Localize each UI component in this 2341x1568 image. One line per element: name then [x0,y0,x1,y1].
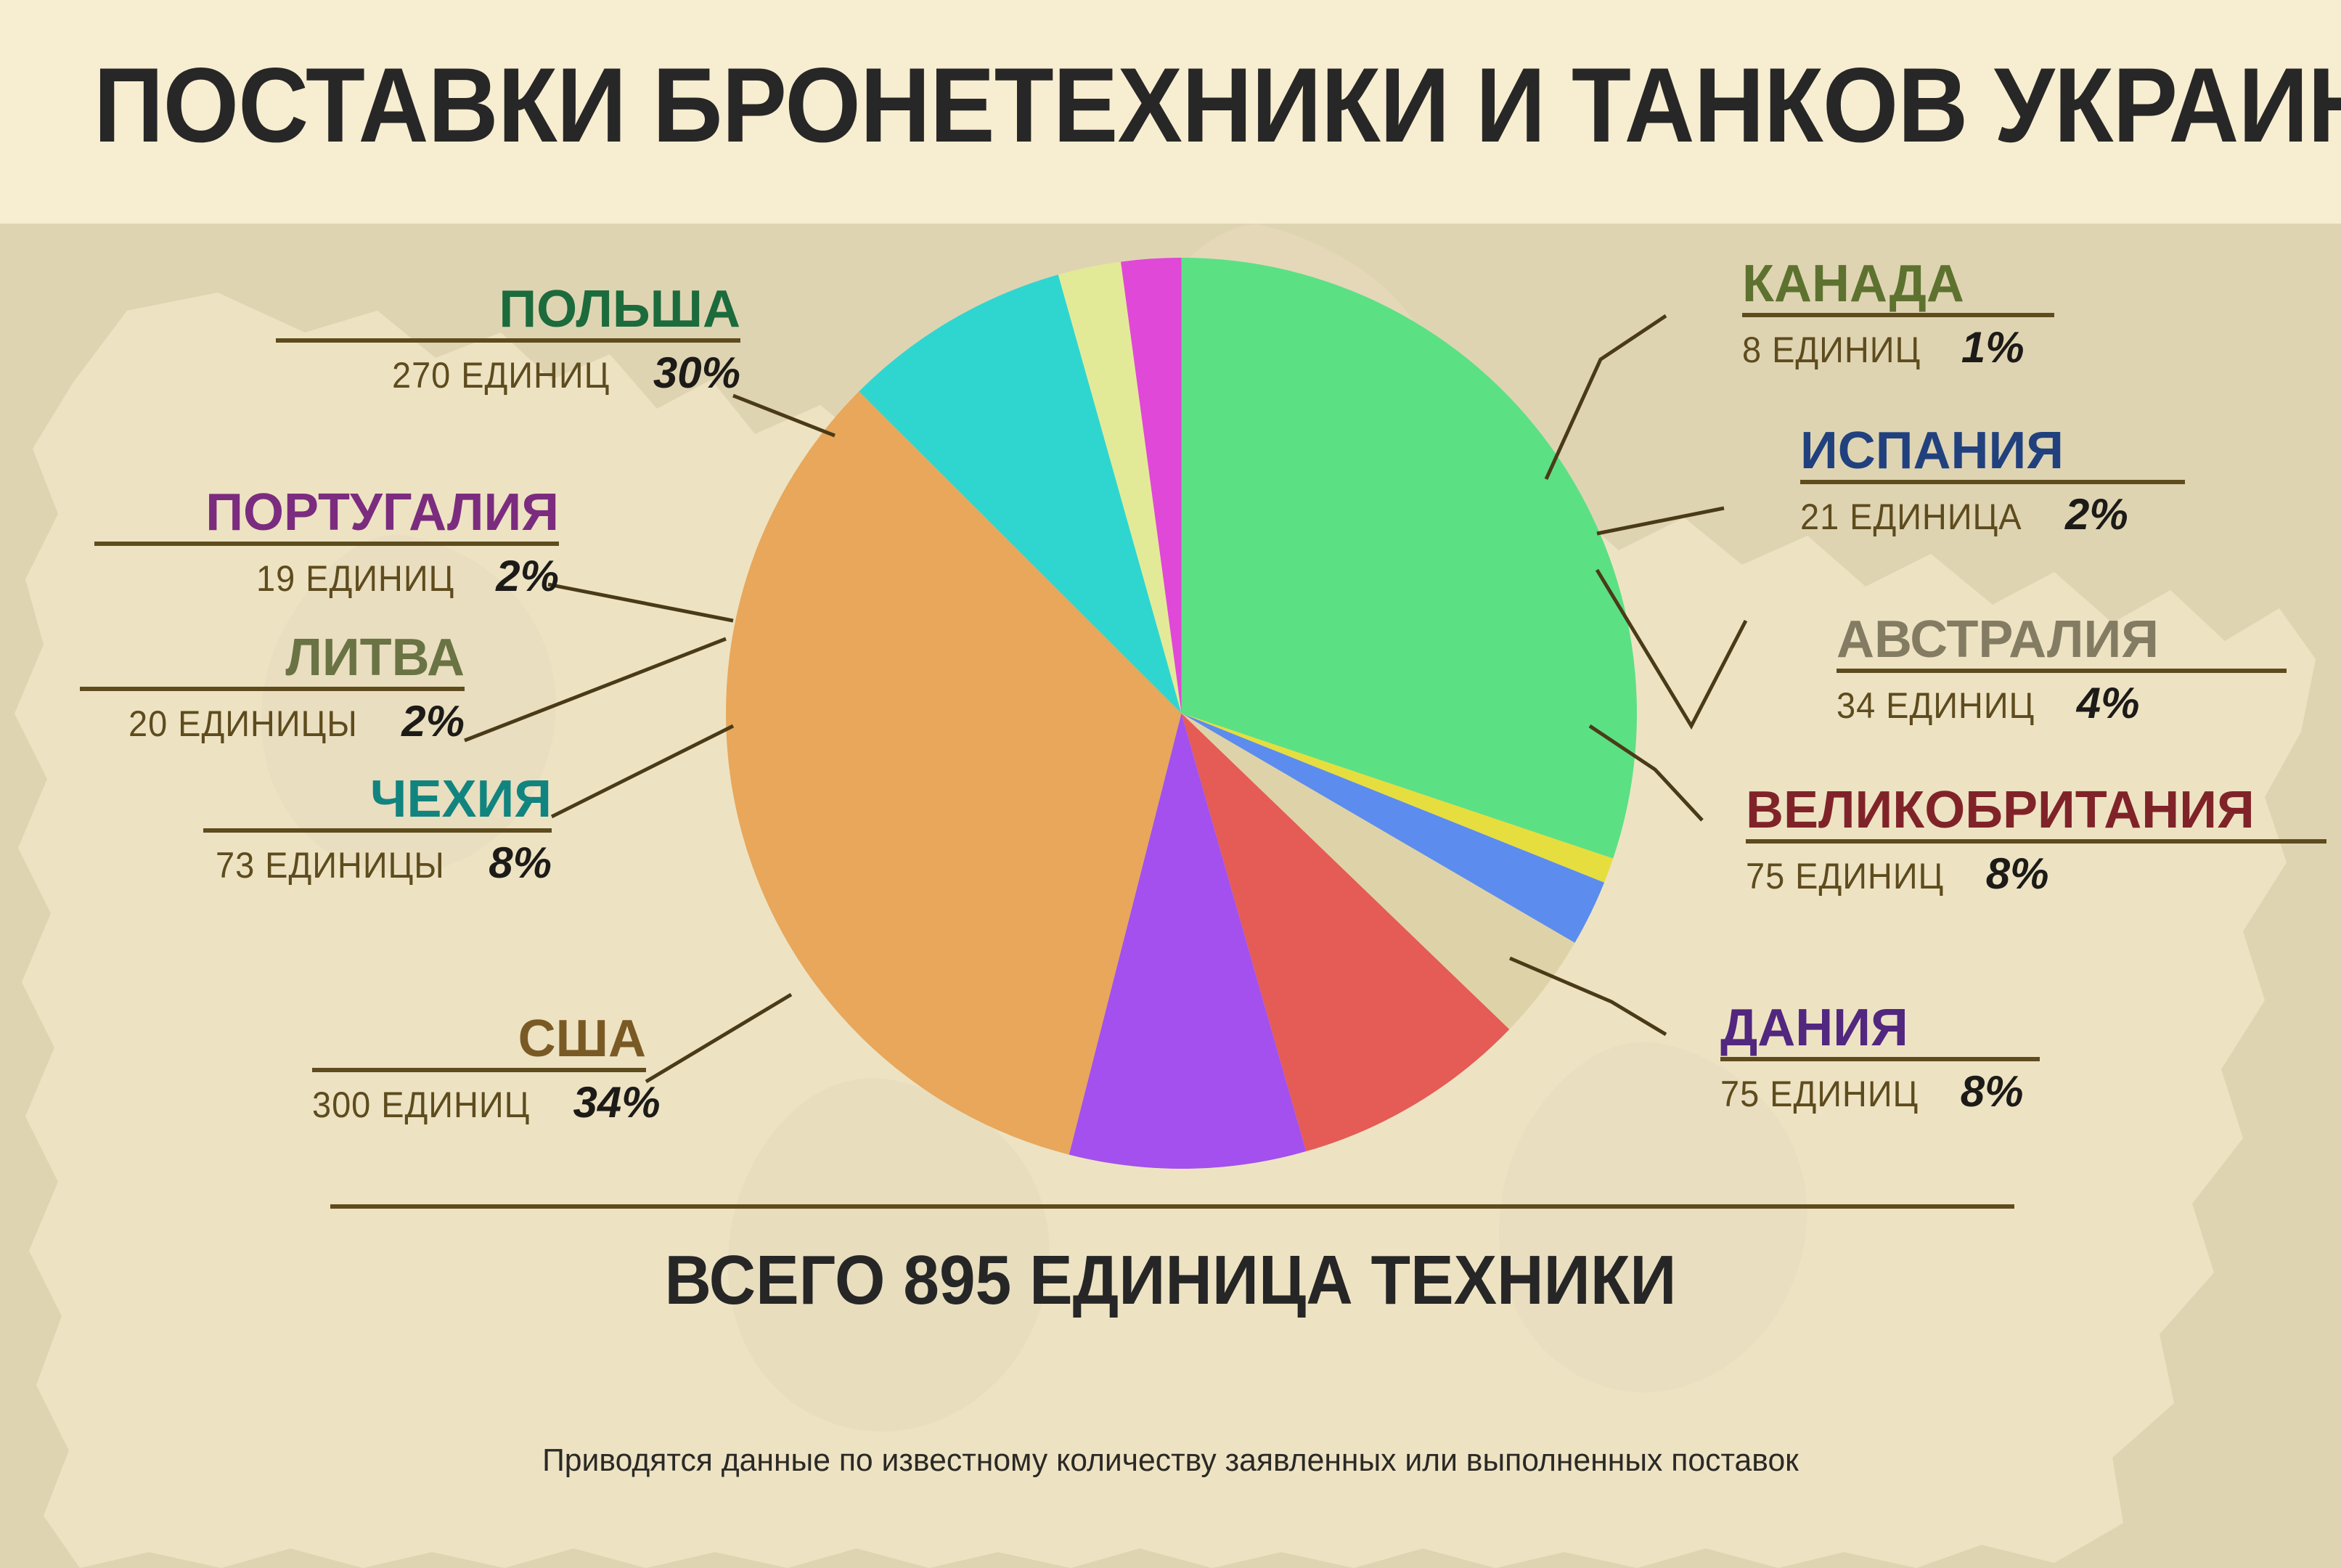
callout-portugal: ПОРТУГАЛИЯ 19 ЕДИНИЦ2% [94,486,559,598]
callout-portugal-rule [94,542,559,546]
callout-canada-percent: 1% [1961,326,2025,369]
callout-usa-units: 300 ЕДИНИЦ [312,1087,530,1123]
callout-portugal-units: 19 ЕДИНИЦ [256,560,454,597]
callout-poland-percent: 30% [653,351,740,395]
callout-usa-stats: 300 ЕДИНИЦ34% [312,1081,646,1124]
callout-usa-percent: 34% [573,1081,661,1124]
callout-australia-rule [1837,669,2287,673]
pie-chart-svg [726,258,1637,1169]
callout-czechia-rule [203,828,552,833]
callout-denmark: ДАНИЯ 75 ЕДИНИЦ8% [1720,1002,2040,1114]
callout-portugal-country: ПОРТУГАЛИЯ [94,486,559,539]
callout-poland-rule [276,338,740,343]
callout-denmark-rule [1720,1057,2040,1061]
callout-uk-stats: 75 ЕДИНИЦ8% [1746,852,2326,896]
callout-portugal-percent: 2% [496,555,559,598]
callout-spain-units: 21 ЕДИНИЦА [1800,499,2022,535]
page-title: ПОСТАВКИ БРОНЕТЕХНИКИ И ТАНКОВ УКРАИНЕ [94,52,2247,158]
callout-spain-rule [1800,480,2185,484]
callout-uk-percent: 8% [1986,852,2049,896]
callout-uk-country: ВЕЛИКОБРИТАНИЯ [1746,784,2326,836]
callout-spain: ИСПАНИЯ 21 ЕДИНИЦА2% [1800,425,2185,536]
infographic-root: ПОСТАВКИ БРОНЕТЕХНИКИ И ТАНКОВ УКРАИНЕ П… [0,0,2341,1568]
callout-lithuania-country: ЛИТВА [80,632,465,684]
callout-spain-percent: 2% [2065,493,2128,536]
header-band: ПОСТАВКИ БРОНЕТЕХНИКИ И ТАНКОВ УКРАИНЕ [0,0,2341,224]
callout-lithuania-percent: 2% [401,700,465,743]
callout-denmark-percent: 8% [1961,1070,2024,1114]
callout-spain-country: ИСПАНИЯ [1800,425,2185,477]
callout-poland: ПОЛЬША 270 ЕДИНИЦ30% [276,283,740,395]
callout-lithuania-stats: 20 ЕДИНИЦЫ2% [80,700,465,743]
callout-denmark-units: 75 ЕДИНИЦ [1720,1076,1919,1112]
callout-usa-country: США [312,1013,646,1065]
total-units-text: ВСЕГО 895 ЕДИНИЦА ТЕХНИКИ [82,1246,2259,1315]
callout-usa-rule [312,1068,646,1072]
callout-czechia-percent: 8% [489,841,552,885]
callout-portugal-stats: 19 ЕДИНИЦ2% [94,555,559,598]
callout-poland-units: 270 ЕДИНИЦ [392,357,610,393]
callout-czechia-units: 73 ЕДИНИЦЫ [216,847,445,883]
pie-slices [726,258,1637,1169]
footnote-text: Приводятся данные по известному количест… [35,1445,2305,1477]
callout-poland-stats: 270 ЕДИНИЦ30% [276,351,740,395]
callout-lithuania-rule [80,687,465,691]
callout-uk-rule [1746,839,2326,844]
callout-czechia-stats: 73 ЕДИНИЦЫ8% [203,841,552,885]
callout-canada-stats: 8 ЕДИНИЦ1% [1742,326,2054,369]
callout-lithuania: ЛИТВА 20 ЕДИНИЦЫ2% [80,632,465,743]
callout-australia-percent: 4% [2077,682,2140,725]
callout-uk: ВЕЛИКОБРИТАНИЯ 75 ЕДИНИЦ8% [1746,784,2326,896]
total-divider-rule [330,1204,2014,1209]
callout-canada-country: КАНАДА [1742,258,2054,310]
callout-uk-units: 75 ЕДИНИЦ [1746,858,1944,894]
callout-canada: КАНАДА 8 ЕДИНИЦ1% [1742,258,2054,369]
callout-australia-stats: 34 ЕДИНИЦ4% [1837,682,2287,725]
callout-czechia-country: ЧЕХИЯ [203,773,552,825]
callout-poland-country: ПОЛЬША [276,283,740,335]
callout-canada-rule [1742,313,2054,317]
callout-canada-units: 8 ЕДИНИЦ [1742,332,1921,368]
callout-australia-country: АВСТРАЛИЯ [1837,613,2287,666]
callout-lithuania-units: 20 ЕДИНИЦЫ [128,706,358,742]
callout-usa: США 300 ЕДИНИЦ34% [312,1013,646,1124]
callout-denmark-country: ДАНИЯ [1720,1002,2040,1054]
callout-czechia: ЧЕХИЯ 73 ЕДИНИЦЫ8% [203,773,552,885]
callout-australia-units: 34 ЕДИНИЦ [1837,687,2035,724]
callout-australia: АВСТРАЛИЯ 34 ЕДИНИЦ4% [1837,613,2287,725]
callout-denmark-stats: 75 ЕДИНИЦ8% [1720,1070,2040,1114]
callout-spain-stats: 21 ЕДИНИЦА2% [1800,493,2185,536]
pie-chart [726,258,1637,1169]
